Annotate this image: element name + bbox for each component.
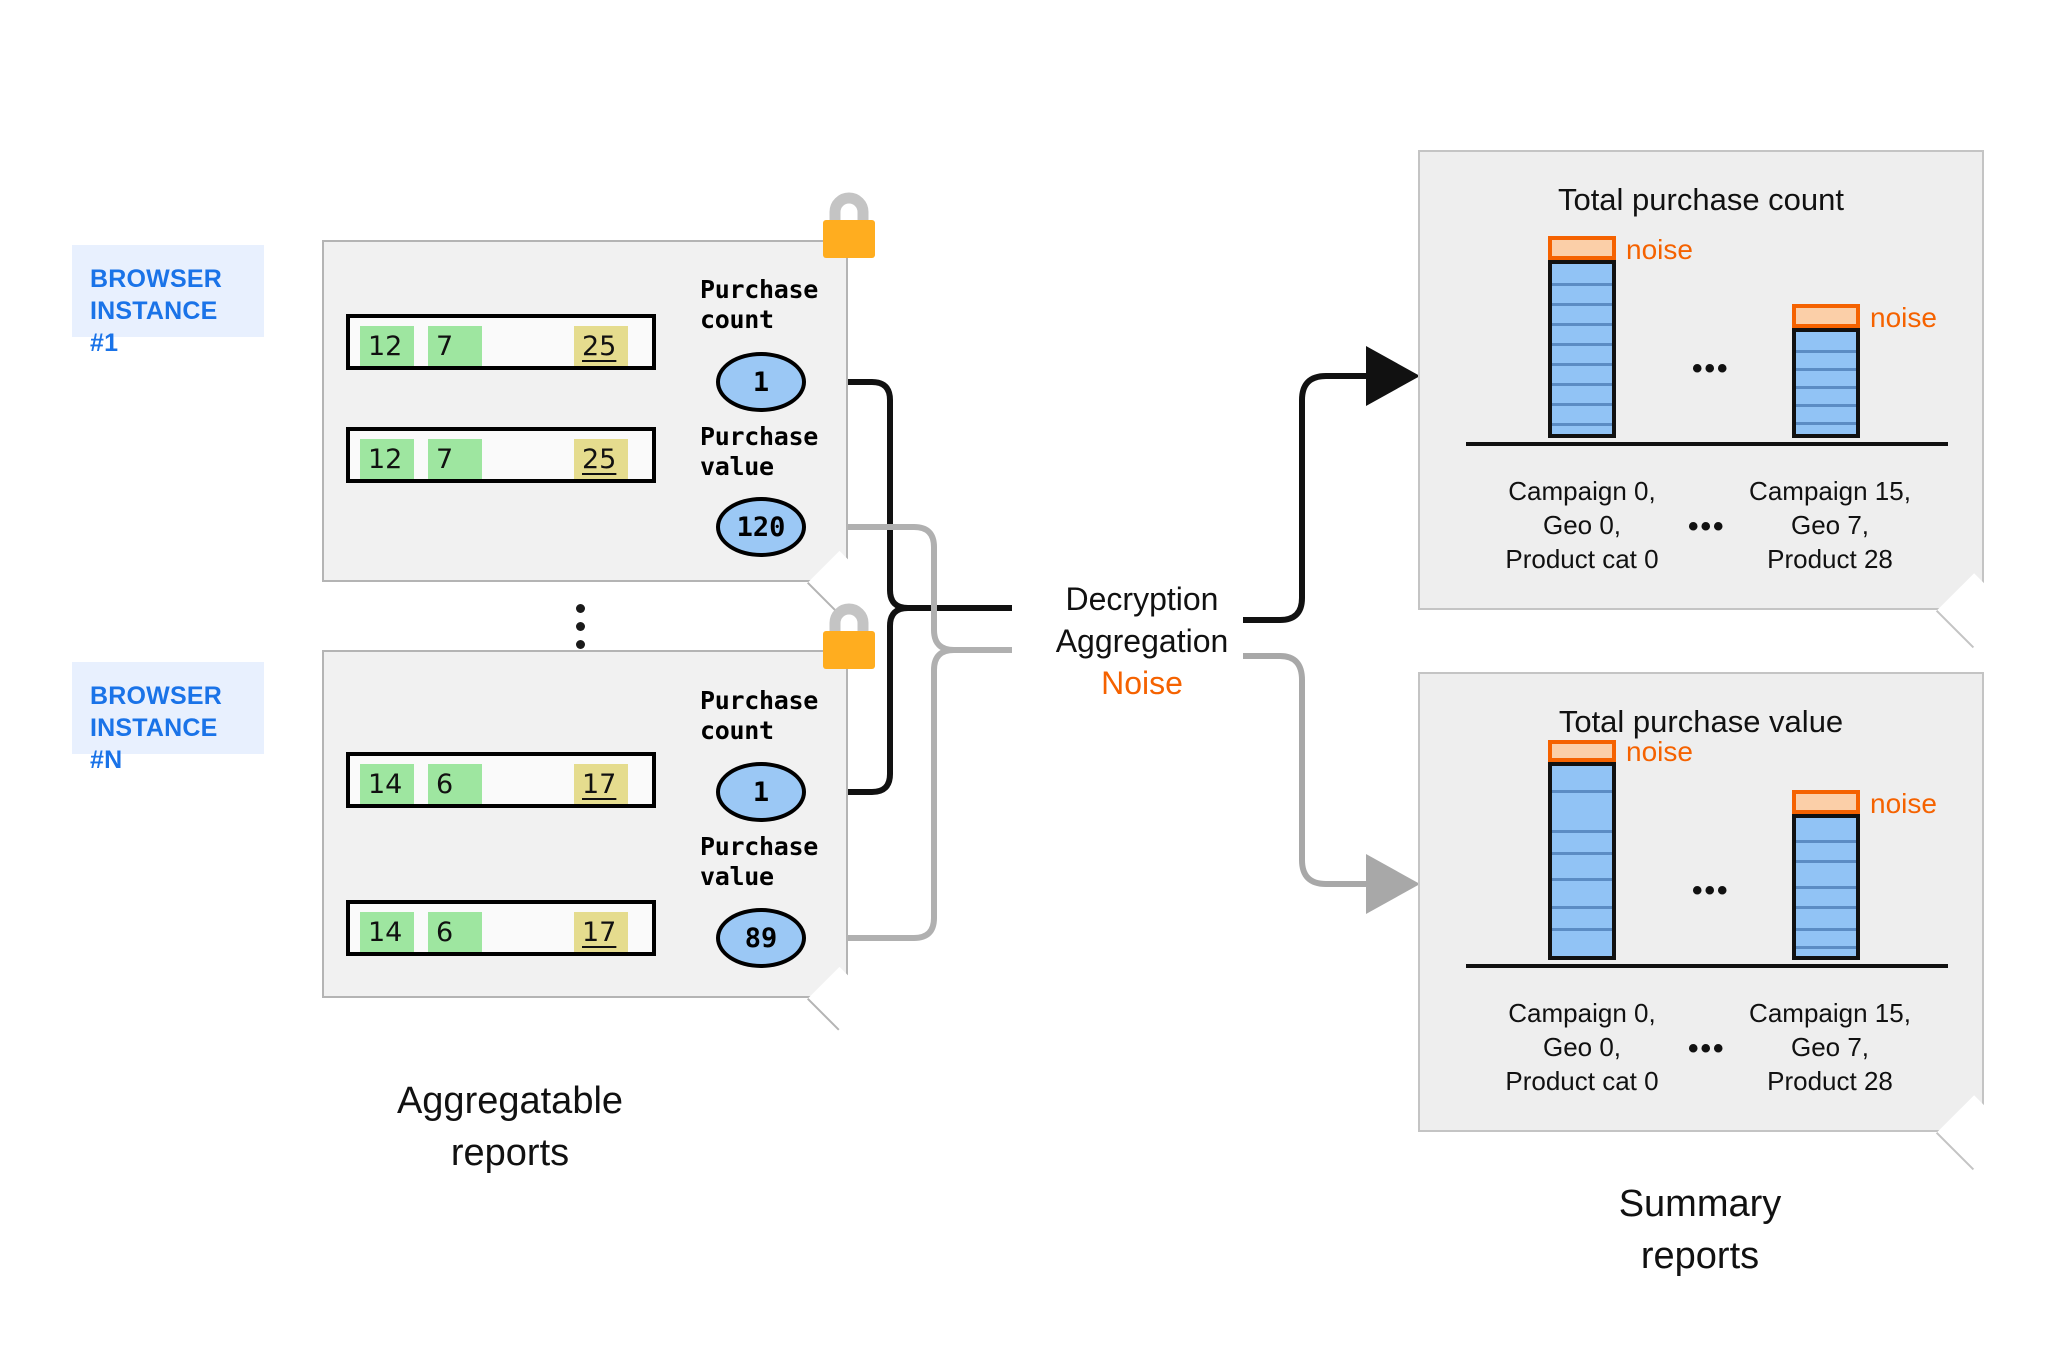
bar-segment bbox=[1552, 383, 1612, 403]
bar-segment bbox=[1796, 886, 1856, 906]
chart-title-count: Total purchase count bbox=[1420, 182, 1982, 218]
category-label-campaign-0: Campaign 0, Geo 0, Product cat 0 bbox=[1462, 996, 1702, 1098]
value-chip: 17 bbox=[574, 764, 628, 804]
noise-cap-campaign-15 bbox=[1792, 304, 1860, 328]
caption-aggregatable-reports: Aggregatable reports bbox=[300, 1075, 720, 1179]
value-chip: 25 bbox=[574, 326, 628, 366]
bar-segment bbox=[1796, 840, 1856, 860]
chart-ellipsis: ••• bbox=[1692, 874, 1730, 908]
category-ellipsis: ••• bbox=[1688, 510, 1726, 544]
category-ellipsis: ••• bbox=[1688, 1032, 1726, 1066]
bar-segment bbox=[1796, 350, 1856, 368]
category-label-campaign-15: Campaign 15, Geo 7, Product 28 bbox=[1710, 996, 1950, 1098]
process-line-aggregation: Aggregation bbox=[1022, 620, 1262, 662]
chart-ellipsis: ••• bbox=[1692, 352, 1730, 386]
vertical-ellipsis bbox=[576, 604, 585, 649]
card-fold-corner bbox=[1936, 573, 2011, 648]
decryption-aggregation-noise-node: Decryption Aggregation Noise bbox=[1022, 578, 1262, 704]
report-row: 12 7 25 bbox=[346, 427, 656, 483]
noise-label-campaign-0: noise bbox=[1626, 234, 1693, 266]
purchase-count-bubble-n: 1 bbox=[716, 762, 806, 822]
lock-icon bbox=[818, 192, 880, 263]
caption-summary-reports: Summary reports bbox=[1490, 1178, 1910, 1282]
chart-title-value: Total purchase value bbox=[1420, 704, 1982, 740]
key-chip: 12 bbox=[360, 326, 414, 366]
browser-instance-n-badge: BROWSER INSTANCE #N bbox=[72, 662, 264, 754]
noise-label-campaign-15: noise bbox=[1870, 788, 1937, 820]
bar-segment bbox=[1552, 852, 1612, 874]
noise-label-campaign-15: noise bbox=[1870, 302, 1937, 334]
summary-report-purchase-count: Total purchase count noise noise ••• bbox=[1418, 150, 1984, 610]
card-fold-corner bbox=[1936, 1095, 2011, 1170]
bar-segment bbox=[1552, 906, 1612, 928]
report-row: 14 6 17 bbox=[346, 752, 656, 808]
bar-campaign-15 bbox=[1792, 328, 1860, 438]
value-chip: 25 bbox=[574, 439, 628, 479]
bar-segment bbox=[1796, 422, 1856, 438]
key-chip: 6 bbox=[428, 764, 482, 804]
key-chip: 7 bbox=[428, 326, 482, 366]
bar-segment bbox=[1796, 906, 1856, 926]
arrow-to-value-report bbox=[1243, 656, 1378, 884]
purchase-value-label-1: Purchase value bbox=[700, 422, 818, 482]
category-label-campaign-0: Campaign 0, Geo 0, Product cat 0 bbox=[1462, 474, 1702, 576]
bar-segment bbox=[1796, 946, 1856, 960]
arrow-to-count-report bbox=[1243, 376, 1378, 620]
key-chip: 6 bbox=[428, 912, 482, 952]
noise-cap-campaign-0 bbox=[1548, 236, 1616, 260]
bar-segment bbox=[1796, 386, 1856, 404]
purchase-count-label-1: Purchase count bbox=[700, 275, 818, 335]
bar-segment bbox=[1796, 860, 1856, 880]
chart-baseline bbox=[1466, 442, 1948, 446]
purchase-count-bubble-1: 1 bbox=[716, 352, 806, 412]
key-chip: 12 bbox=[360, 439, 414, 479]
diagram-canvas: BROWSER INSTANCE #1 12 7 25 12 7 25 Purc… bbox=[0, 0, 2048, 1372]
category-label-campaign-15: Campaign 15, Geo 7, Product 28 bbox=[1710, 474, 1950, 576]
bar-campaign-0 bbox=[1548, 260, 1616, 438]
bar-segment bbox=[1552, 928, 1612, 950]
noise-label-campaign-0: noise bbox=[1626, 736, 1693, 768]
key-chip: 7 bbox=[428, 439, 482, 479]
bar-campaign-15 bbox=[1792, 814, 1860, 960]
bar-segment bbox=[1796, 928, 1856, 948]
summary-report-purchase-value: Total purchase value noise noise ••• Cam… bbox=[1418, 672, 1984, 1132]
process-line-noise: Noise bbox=[1022, 662, 1262, 704]
bar-segment bbox=[1552, 343, 1612, 363]
bar-segment bbox=[1552, 363, 1612, 383]
bar-segment bbox=[1552, 283, 1612, 303]
purchase-count-label-n: Purchase count bbox=[700, 686, 818, 746]
bar-segment bbox=[1796, 368, 1856, 386]
report-row: 12 7 25 bbox=[346, 314, 656, 370]
key-chip: 14 bbox=[360, 764, 414, 804]
process-line-decryption: Decryption bbox=[1022, 578, 1262, 620]
lock-icon bbox=[818, 603, 880, 674]
bar-campaign-0 bbox=[1548, 762, 1616, 960]
purchase-value-label-n: Purchase value bbox=[700, 832, 818, 892]
bar-segment bbox=[1552, 423, 1612, 438]
bar-segment bbox=[1552, 323, 1612, 343]
purchase-value-bubble-1: 120 bbox=[716, 497, 806, 557]
key-chip: 14 bbox=[360, 912, 414, 952]
bar-segment bbox=[1552, 303, 1612, 323]
chart-baseline bbox=[1466, 964, 1948, 968]
report-row: 14 6 17 bbox=[346, 900, 656, 956]
bar-segment bbox=[1552, 878, 1612, 900]
noise-cap-campaign-0 bbox=[1548, 740, 1616, 762]
bar-segment bbox=[1552, 790, 1612, 812]
purchase-value-bubble-n: 89 bbox=[716, 908, 806, 968]
browser-instance-1-badge: BROWSER INSTANCE #1 bbox=[72, 245, 264, 337]
bar-segment bbox=[1796, 404, 1856, 422]
value-chip: 17 bbox=[574, 912, 628, 952]
bar-segment bbox=[1552, 403, 1612, 423]
bar-segment bbox=[1552, 830, 1612, 852]
card-fold-corner bbox=[807, 967, 871, 1031]
noise-cap-campaign-15 bbox=[1792, 790, 1860, 814]
